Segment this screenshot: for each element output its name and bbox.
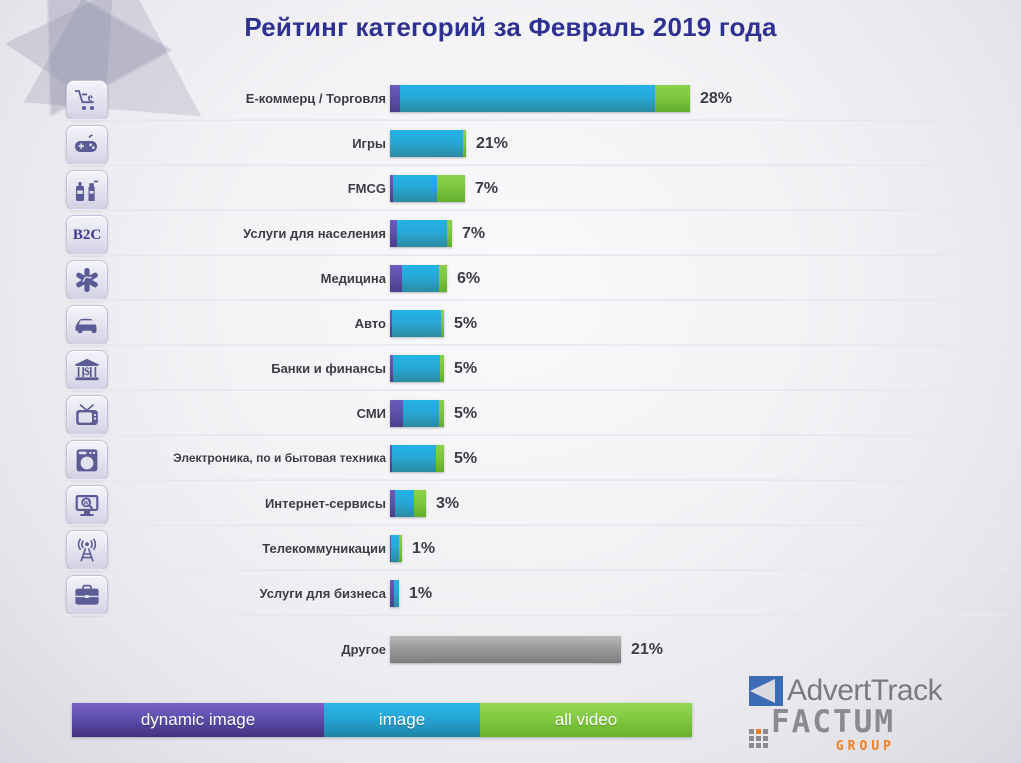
stacked-bar	[390, 580, 399, 607]
bar-segment-vid	[399, 535, 402, 562]
stacked-bar	[390, 445, 444, 472]
chart-row: Электроника, по и бытовая техника5%	[0, 436, 1021, 481]
stacked-bar	[390, 220, 452, 247]
chart-row: Телекоммуникации1%	[0, 526, 1021, 571]
bar-segment-img	[392, 310, 441, 337]
category-label: Игры	[352, 121, 386, 166]
stacked-bar	[390, 310, 444, 337]
bar-segment-vid	[463, 130, 466, 157]
bar-segment-other	[390, 636, 621, 663]
chart-row: $Банки и финансы5%	[0, 346, 1021, 391]
chart-row: WИнтернет-сервисы3%	[0, 481, 1021, 526]
legend-item-dynamic[interactable]: dynamic image	[72, 703, 324, 737]
stacked-bar	[390, 265, 447, 292]
bar-segment-dyn	[390, 220, 397, 247]
bar-segment-img	[391, 535, 399, 562]
value-label: 5%	[454, 391, 477, 436]
bar-segment-vid	[655, 85, 690, 112]
bar-segment-vid	[440, 355, 444, 382]
tv-icon	[66, 395, 108, 435]
category-label: Интернет-сервисы	[265, 481, 386, 526]
bar-segment-img	[392, 445, 436, 472]
car-icon	[66, 305, 108, 345]
chart-row: СМИ5%	[0, 391, 1021, 436]
chart-row: FMCG7%	[0, 166, 1021, 211]
star-of-life-icon	[66, 260, 108, 300]
svg-text:e: e	[88, 90, 94, 104]
bar-segment-img	[390, 130, 463, 157]
stacked-bar	[390, 355, 444, 382]
bar-segment-vid	[436, 445, 444, 472]
bar-segment-img	[402, 265, 439, 292]
gamepad-icon	[66, 125, 108, 165]
legend-item-video[interactable]: all video	[480, 703, 692, 737]
factum-dots-icon	[749, 729, 768, 748]
broadcast-tower-icon	[66, 530, 108, 570]
bar-segment-img	[394, 580, 399, 607]
stacked-bar	[390, 85, 690, 112]
row-separator	[62, 614, 1009, 616]
category-label: Е-коммерц / Торговля	[246, 76, 386, 121]
bar-segment-dyn	[390, 400, 403, 427]
bar-segment-dyn	[390, 85, 400, 112]
chart-row: Игры21%	[0, 121, 1021, 166]
stacked-bar	[390, 400, 444, 427]
category-label: Телекоммуникации	[262, 526, 386, 571]
category-label: FMCG	[348, 166, 386, 211]
bar-segment-vid	[414, 490, 426, 517]
value-label: 5%	[454, 346, 477, 391]
value-label: 1%	[409, 571, 432, 616]
value-label: 1%	[412, 526, 435, 571]
shopping-cart-e-icon: e	[66, 80, 108, 120]
category-label: Медицина	[321, 256, 386, 301]
stacked-bar	[390, 636, 621, 663]
stacked-bar	[390, 490, 426, 517]
chart-row-other: Другое21%	[0, 626, 1021, 674]
adverttrack-mark-icon	[749, 676, 783, 706]
chart-row: eЕ-коммерц / Торговля28%	[0, 76, 1021, 121]
bar-segment-img	[393, 355, 440, 382]
category-label: Услуги для бизнеса	[259, 571, 386, 616]
bar-segment-vid	[441, 310, 444, 337]
category-rating-chart: eЕ-коммерц / Торговля28%Игры21%FMCG7%B2C…	[0, 76, 1021, 674]
monitor-search-icon: W	[66, 485, 108, 525]
bar-segment-img	[397, 220, 447, 247]
chart-row: Медицина6%	[0, 256, 1021, 301]
bar-segment-img	[395, 490, 414, 517]
chart-row: B2CУслуги для населения7%	[0, 211, 1021, 256]
bottles-spray-icon	[66, 170, 108, 210]
category-label: Авто	[355, 301, 386, 346]
value-label: 7%	[462, 211, 485, 256]
category-label: СМИ	[357, 391, 386, 436]
value-label: 28%	[700, 76, 732, 121]
page-title: Рейтинг категорий за Февраль 2019 года	[0, 12, 1021, 43]
chart-row: Авто5%	[0, 301, 1021, 346]
stacked-bar	[390, 130, 466, 157]
adverttrack-factum-logo: AdvertTrack FACTUM GROUP	[749, 676, 999, 756]
category-label: Другое	[341, 626, 386, 674]
bar-segment-vid	[437, 175, 465, 202]
value-label: 21%	[476, 121, 508, 166]
category-label: Услуги для населения	[243, 211, 386, 256]
bar-segment-img	[403, 400, 439, 427]
logo-company-text: FACTUM	[771, 704, 895, 740]
briefcase-icon	[66, 575, 108, 615]
bar-segment-dyn	[390, 265, 402, 292]
value-label: 3%	[436, 481, 459, 526]
b2c-text-icon: B2C	[66, 215, 108, 255]
value-label: 7%	[475, 166, 498, 211]
value-label: 21%	[631, 626, 663, 674]
value-label: 6%	[457, 256, 480, 301]
svg-text:$: $	[84, 364, 90, 378]
category-label: Банки и финансы	[271, 346, 386, 391]
bar-segment-vid	[439, 265, 447, 292]
stacked-bar	[390, 175, 465, 202]
bank-icon: $	[66, 350, 108, 390]
chart-row: Услуги для бизнеса1%	[0, 571, 1021, 616]
value-label: 5%	[454, 436, 477, 481]
bar-segment-vid	[447, 220, 452, 247]
svg-text:W: W	[84, 501, 90, 507]
logo-brand-text: AdvertTrack	[787, 676, 942, 706]
bar-segment-vid	[439, 400, 444, 427]
logo-group-text: GROUP	[771, 739, 895, 754]
category-label: Электроника, по и бытовая техника	[173, 436, 386, 481]
bar-segment-img	[400, 85, 655, 112]
washing-machine-icon	[66, 440, 108, 480]
stacked-bar	[390, 535, 402, 562]
value-label: 5%	[454, 301, 477, 346]
legend-item-image[interactable]: image	[324, 703, 480, 737]
chart-legend: dynamic imageimageall video	[72, 703, 692, 737]
bar-segment-img	[393, 175, 437, 202]
